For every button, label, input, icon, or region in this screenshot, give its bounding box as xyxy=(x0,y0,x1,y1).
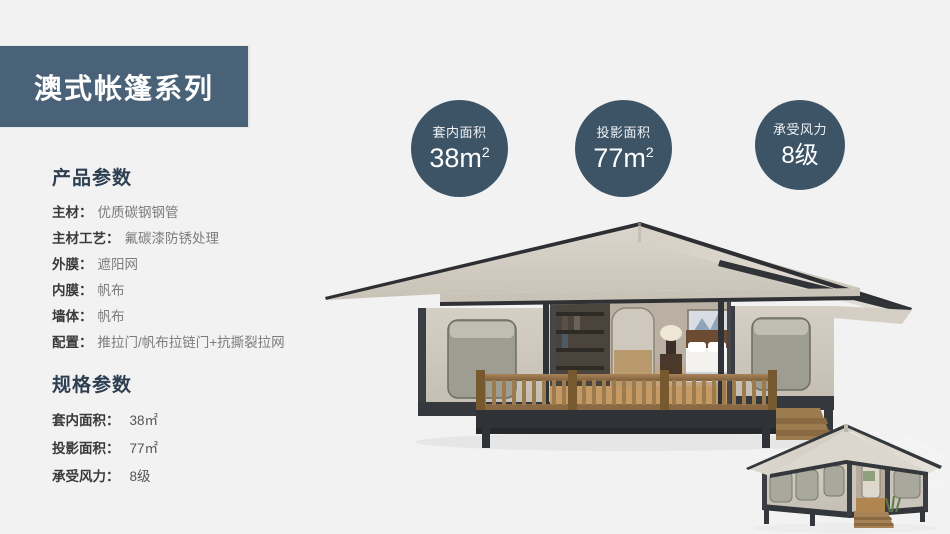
spec-value: 帆布 xyxy=(98,304,125,330)
spec-label: 配置： xyxy=(52,330,93,356)
stat-badge-projected-area: 投影面积 77m2 xyxy=(575,100,672,197)
spec-value: 帆布 xyxy=(98,278,125,304)
stat-badge-label: 投影面积 xyxy=(596,126,650,139)
stat-badge-value: 77m2 xyxy=(593,145,653,172)
stat-badge-value: 38m2 xyxy=(429,145,489,172)
spec-value: 优质碳钢钢管 xyxy=(98,200,179,226)
spec-value: 遮阳网 xyxy=(98,252,139,278)
product-parameters-heading: 产品参数 xyxy=(52,163,352,190)
stat-badge-label: 承受风力 xyxy=(773,123,827,136)
page-title: 澳式帐篷系列 xyxy=(34,67,214,107)
spec-label: 内膜： xyxy=(52,278,93,304)
spec-label: 投影面积： xyxy=(52,435,120,463)
title-banner: 澳式帐篷系列 xyxy=(0,45,250,128)
spec-label: 主材： xyxy=(52,200,93,226)
spec-value: 8级 xyxy=(130,463,151,491)
spec-value: 推拉门/帆布拉链门+抗撕裂拉网 xyxy=(98,330,285,356)
spec-value: 77㎡ xyxy=(130,435,159,463)
spec-value: 38㎡ xyxy=(130,407,159,435)
spec-label: 墙体： xyxy=(52,304,93,330)
spec-label: 外膜： xyxy=(52,252,93,278)
list-item: 承受风力： 8级 xyxy=(52,463,352,491)
stat-badge-interior-area: 套内面积 38m2 xyxy=(411,100,508,197)
spec-value: 氟碳漆防锈处理 xyxy=(125,226,220,252)
stat-badge-label: 套内面积 xyxy=(432,126,486,139)
small-tent-image xyxy=(742,416,950,534)
spec-label: 主材工艺： xyxy=(52,226,120,252)
slide-root: 澳式帐篷系列 产品参数 主材： 优质碳钢钢管 主材工艺： 氟碳漆防锈处理 外膜：… xyxy=(0,0,950,534)
spec-label: 承受风力： xyxy=(52,463,120,491)
small-tent-illustration xyxy=(742,416,950,534)
stat-badge-value: 8级 xyxy=(781,142,818,168)
stat-badge-wind-resistance: 承受风力 8级 xyxy=(755,100,845,190)
spec-label: 套内面积： xyxy=(52,407,120,435)
